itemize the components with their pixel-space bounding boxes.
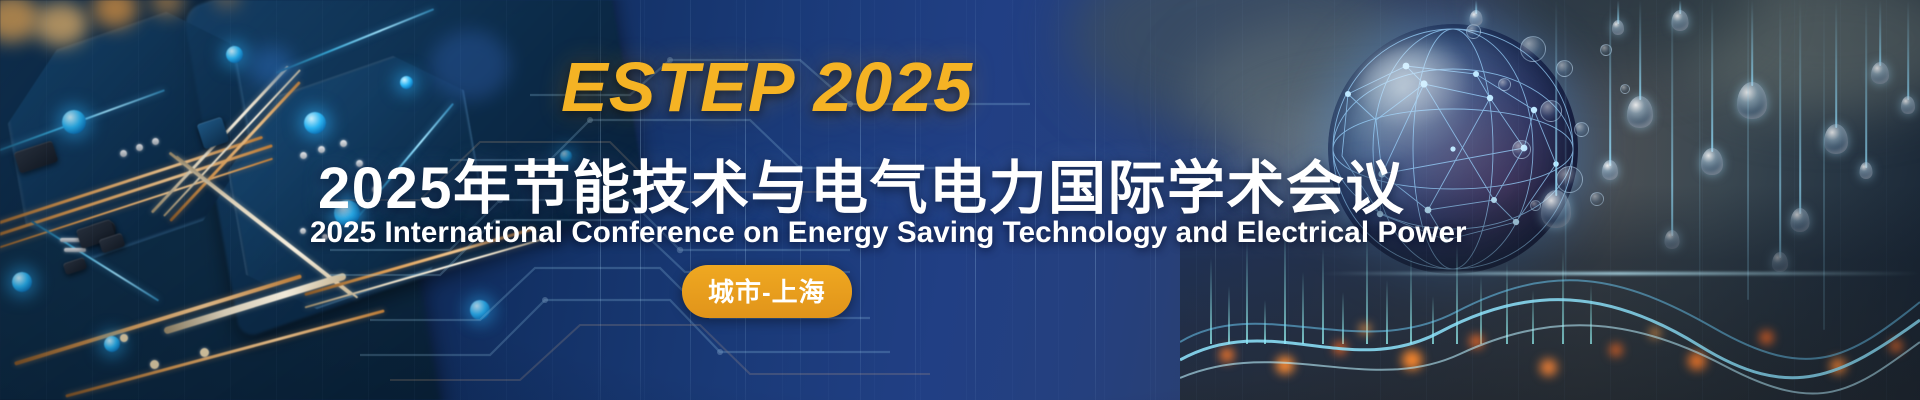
event-acronym: ESTEP 2025: [561, 47, 973, 127]
city-badge[interactable]: 城市-上海: [682, 265, 852, 318]
conference-banner: ESTEP 2025 2025年节能技术与电气电力国际学术会议 2025 Int…: [0, 0, 1920, 400]
conference-subtitle-english: 2025 International Conference on Energy …: [310, 216, 1467, 250]
banner-content: ESTEP 2025 2025年节能技术与电气电力国际学术会议 2025 Int…: [0, 0, 1920, 400]
conference-title-chinese: 2025年节能技术与电气电力国际学术会议: [318, 141, 1405, 225]
